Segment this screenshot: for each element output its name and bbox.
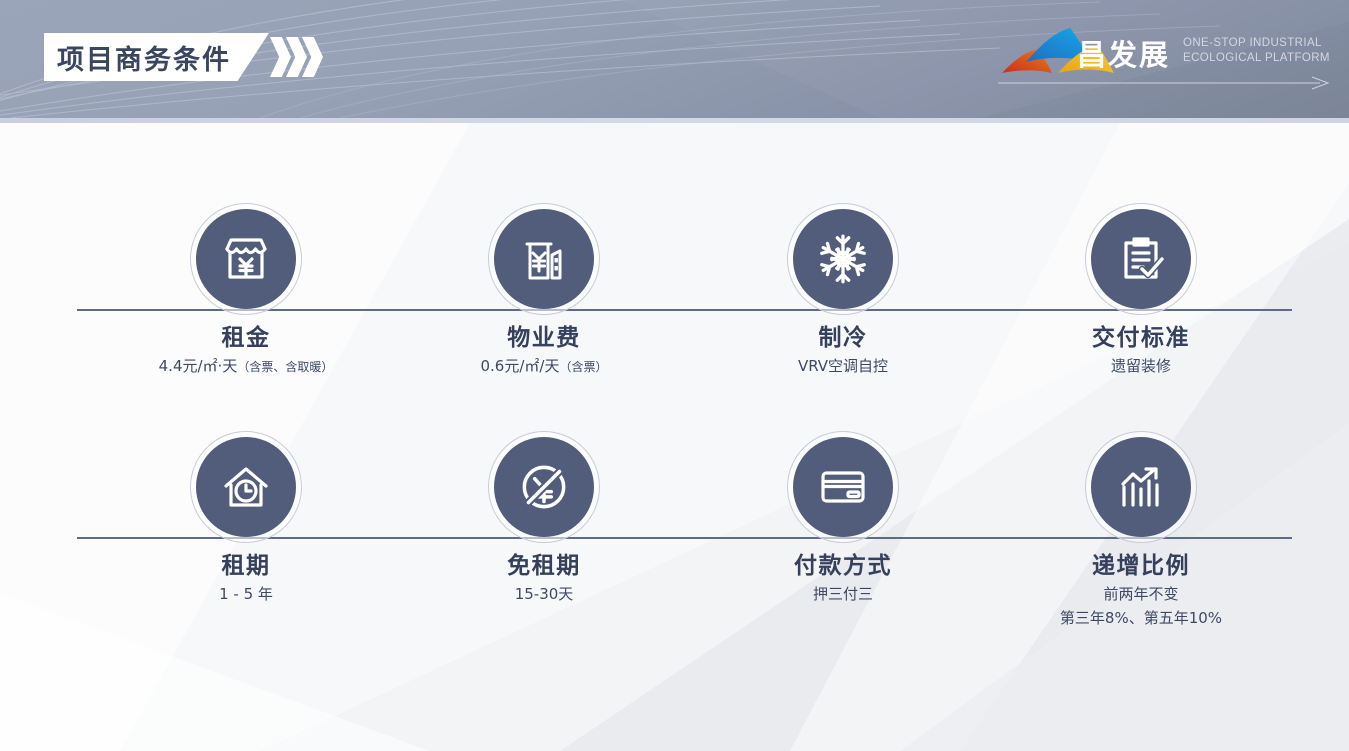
logo-chinese-name: 昌发展 (1077, 32, 1170, 74)
icon-disc (196, 209, 296, 309)
feature-value-text: 遗留装修 (1111, 357, 1171, 375)
feature-title: 制冷 (733, 323, 953, 353)
feature-title: 免租期 (434, 551, 654, 581)
feature-value-text: 押三付三 (813, 585, 873, 603)
icon-disc (494, 209, 594, 309)
feature-value-text: 0.6元/㎡/天 (481, 357, 560, 375)
feature-labels: 递增比例 前两年不变 第三年8%、第五年10% (1031, 551, 1251, 629)
growth-chart-icon (1113, 459, 1169, 515)
clipboard-check-icon (1113, 231, 1169, 287)
feature-value-text: 15-30天 (515, 585, 574, 603)
feature-note: （含票、含取暖） (237, 360, 333, 374)
feature-value-text: 4.4元/㎡·天 (159, 357, 238, 375)
feature-value: 15-30天 (434, 584, 654, 606)
logo-tagline-line1: ONE-STOP INDUSTRIAL (1183, 36, 1330, 51)
no-yen-icon (515, 458, 573, 516)
feature-value: 0.6元/㎡/天（含票） (434, 356, 654, 378)
icon-disc (793, 437, 893, 537)
feature-value: 遗留装修 (1031, 356, 1251, 378)
feature-row-2: 租期 1 - 5 年 (0, 423, 1349, 653)
feature-row-1: 租金 4.4元/㎡·天（含票、含取暖） (0, 195, 1349, 425)
icon-disc (1091, 209, 1191, 309)
icon-disc (494, 437, 594, 537)
house-clock-icon (218, 459, 274, 515)
feature-labels: 交付标准 遗留装修 (1031, 323, 1251, 378)
logo-tagline-line2: ECOLOGICAL PLATFORM (1183, 51, 1330, 66)
feature-value: 押三付三 (733, 584, 953, 606)
feature-title: 租金 (136, 323, 356, 353)
feature-title: 付款方式 (733, 551, 953, 581)
feature-labels: 租期 1 - 5 年 (136, 551, 356, 606)
company-logo: 昌发展 ONE-STOP INDUSTRIAL ECOLOGICAL PLATF… (1000, 28, 1332, 92)
feature-value: 前两年不变 (1031, 584, 1251, 605)
icon-disc (1091, 437, 1191, 537)
icon-disc (793, 209, 893, 309)
logo-underline-arrow (998, 76, 1332, 90)
feature-labels: 物业费 0.6元/㎡/天（含票） (434, 323, 654, 378)
credit-card-icon (815, 459, 871, 515)
feature-value-text: VRV空调自控 (798, 357, 888, 375)
feature-value: 4.4元/㎡·天（含票、含取暖） (136, 356, 356, 378)
icon-disc (196, 437, 296, 537)
page-title-banner: 项目商务条件 (44, 33, 269, 81)
page-title: 项目商务条件 (57, 38, 231, 77)
feature-title: 物业费 (434, 323, 654, 353)
feature-note-line2: 第三年8%、第五年10% (981, 608, 1301, 629)
feature-labels: 免租期 15-30天 (434, 551, 654, 606)
feature-title: 递增比例 (1031, 551, 1251, 581)
feature-labels: 租金 4.4元/㎡·天（含票、含取暖） (136, 323, 356, 378)
content-area: 租金 4.4元/㎡·天（含票、含取暖） (0, 123, 1349, 751)
feature-value: 1 - 5 年 (136, 584, 356, 606)
feature-value: VRV空调自控 (733, 356, 953, 378)
feature-labels: 付款方式 押三付三 (733, 551, 953, 606)
feature-labels: 制冷 VRV空调自控 (733, 323, 953, 378)
logo-tagline: ONE-STOP INDUSTRIAL ECOLOGICAL PLATFORM (1183, 36, 1330, 66)
storefront-yen-icon (218, 231, 274, 287)
feature-note: （含票） (559, 360, 607, 374)
snowflake-icon (814, 230, 872, 288)
feature-title: 租期 (136, 551, 356, 581)
buildings-yen-icon (516, 231, 572, 287)
page-header: 项目商务条件 昌发展 ONE-STOP INDUSTRIAL (0, 0, 1349, 118)
feature-value-text: 前两年不变 (1103, 585, 1178, 603)
feature-title: 交付标准 (1031, 323, 1251, 353)
feature-value-text: 1 - 5 年 (219, 585, 273, 603)
